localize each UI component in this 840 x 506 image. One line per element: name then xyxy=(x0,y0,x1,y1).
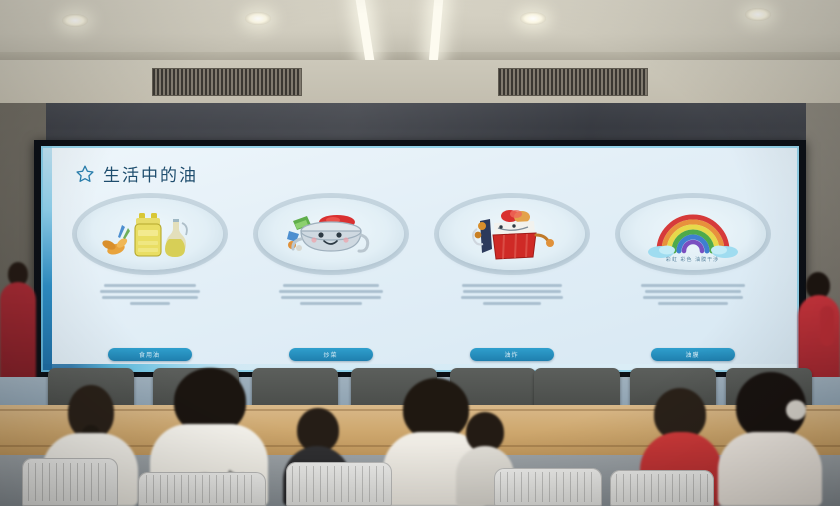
audience-body xyxy=(718,432,822,506)
panel-button-label: 食用油 xyxy=(139,350,160,359)
ceiling xyxy=(0,0,840,60)
panel-cooking-oil[interactable]: 食用油 xyxy=(59,198,240,363)
air-vent-right xyxy=(498,68,648,96)
projection-screen: 生活中的油 xyxy=(34,140,806,377)
downlight-2 xyxy=(245,12,271,25)
presentation-slide[interactable]: 生活中的油 xyxy=(41,146,799,372)
text-line xyxy=(483,302,541,305)
panel-rainbow[interactable]: 彩虹 彩色 油膜干涉 油膜 xyxy=(602,198,783,363)
panel-cooking-pot[interactable]: 炒菜 xyxy=(240,198,421,363)
slide-left-accent-band xyxy=(41,146,52,372)
text-line xyxy=(104,284,196,287)
panel-button[interactable]: 炒菜 xyxy=(289,348,373,361)
seat-back-1 xyxy=(22,458,118,506)
lecture-hall-scene: 生活中的油 xyxy=(0,0,840,506)
cooking-pot-icon xyxy=(279,205,383,263)
panel-body-text xyxy=(84,284,216,320)
text-line xyxy=(462,284,562,287)
text-line xyxy=(102,296,198,299)
presenter-arm xyxy=(820,306,834,346)
downlight-1 xyxy=(62,14,88,27)
slide-title-group: 生活中的油 xyxy=(75,161,198,186)
air-vent-left xyxy=(152,68,302,96)
seat-back-2 xyxy=(138,472,266,506)
text-line xyxy=(281,296,381,299)
star-icon xyxy=(75,164,95,184)
text-line xyxy=(641,284,745,287)
panel-button-label: 油炸 xyxy=(504,350,518,359)
panel-button[interactable]: 油膜 xyxy=(651,348,735,361)
panel-image-frame xyxy=(258,198,404,270)
panel-body-text xyxy=(446,284,578,320)
downlight-4 xyxy=(745,8,771,21)
text-line xyxy=(130,302,170,305)
downlight-3 xyxy=(520,12,546,25)
text-line xyxy=(463,290,561,293)
audience-hair-tie xyxy=(786,400,806,420)
panel-image-frame: 彩虹 彩色 油膜干涉 xyxy=(620,198,766,270)
oil-bottle-icon xyxy=(98,205,202,263)
panel-button[interactable]: 油炸 xyxy=(470,348,554,361)
slide-panel-grid: 食用油 xyxy=(59,198,783,363)
panel-button-label: 油膜 xyxy=(685,350,699,359)
panel-image-frame xyxy=(439,198,585,270)
fried-snack-box-icon xyxy=(460,205,564,263)
panel-button-label: 炒菜 xyxy=(323,350,337,359)
panel-button[interactable]: 食用油 xyxy=(108,348,192,361)
rainbow-icon xyxy=(641,205,745,263)
seat-back-4 xyxy=(494,468,602,506)
panel-image-frame xyxy=(77,198,223,270)
text-line xyxy=(100,290,200,293)
seat-back-3 xyxy=(286,462,392,506)
text-line xyxy=(643,296,743,299)
text-line xyxy=(300,302,362,305)
page-title: 生活中的油 xyxy=(103,161,198,186)
text-line xyxy=(461,296,563,299)
text-line xyxy=(658,302,728,305)
upper-wall xyxy=(0,60,840,106)
panel-fried-snack[interactable]: 油炸 xyxy=(421,198,602,363)
rainbow-caption: 彩虹 彩色 油膜干涉 xyxy=(666,256,719,263)
audience-member-7 xyxy=(718,372,822,506)
panel-body-text xyxy=(265,284,397,320)
seat-back-5 xyxy=(610,470,714,506)
text-line xyxy=(279,290,383,293)
stage-chair-6[interactable] xyxy=(534,368,620,408)
text-line xyxy=(283,284,379,287)
text-line xyxy=(645,290,741,293)
panel-body-text xyxy=(627,284,759,320)
